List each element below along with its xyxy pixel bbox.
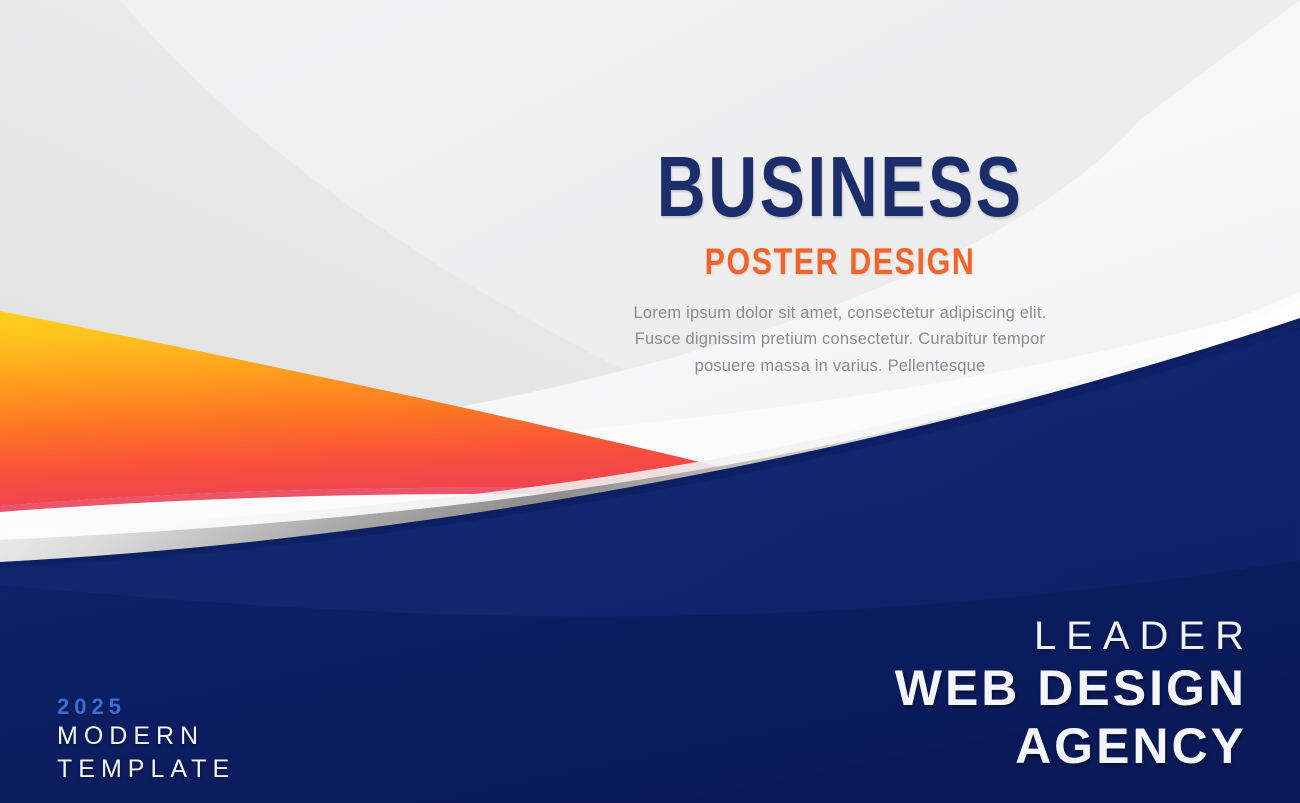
agency-eyebrow: LEADER — [895, 614, 1254, 659]
badge-line-template: TEMPLATE — [57, 753, 235, 786]
agency-branding: LEADER WEB DESIGN AGENCY — [895, 614, 1244, 775]
badge-year: 2025 — [57, 693, 235, 721]
page-subtitle: POSTER DESIGN — [627, 243, 1053, 280]
agency-line-agency: AGENCY — [895, 717, 1247, 775]
page-title: BUSINESS — [632, 148, 1048, 229]
badge-line-modern: MODERN — [57, 720, 235, 753]
agency-line-web-design: WEB DESIGN — [895, 659, 1247, 717]
headline-block: BUSINESS POSTER DESIGN Lorem ipsum dolor… — [580, 148, 1100, 380]
body-paragraph: Lorem ipsum dolor sit amet, consectetur … — [614, 300, 1066, 380]
template-badge: 2025 MODERN TEMPLATE — [57, 693, 235, 786]
poster-canvas: BUSINESS POSTER DESIGN Lorem ipsum dolor… — [0, 0, 1300, 803]
